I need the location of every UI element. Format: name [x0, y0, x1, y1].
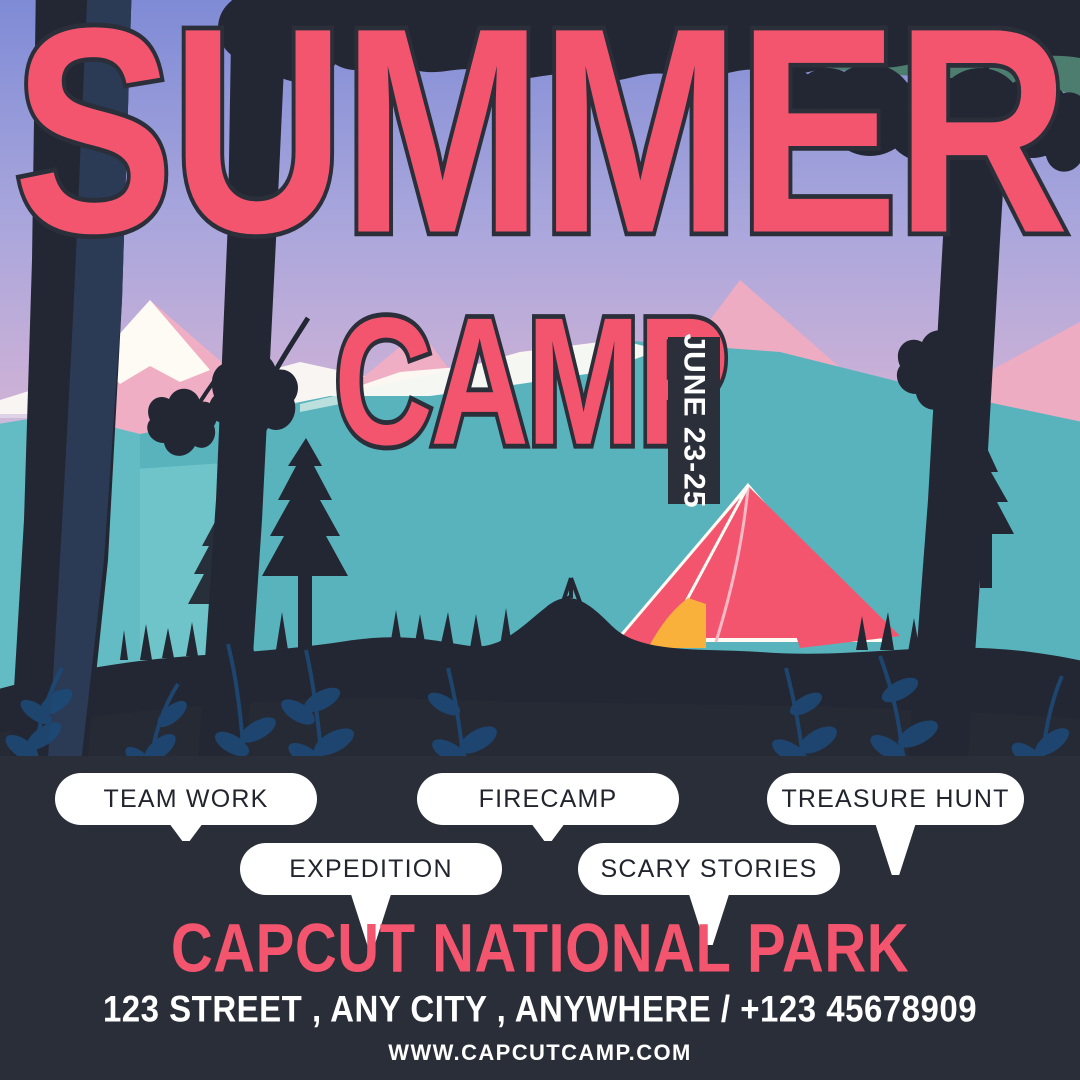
activity-pill-firecamp[interactable]: FIRECAMP: [417, 773, 679, 825]
activity-pill-label: TREASURE HUNT: [781, 785, 1009, 814]
activity-pill-label: SCARY STORIES: [600, 855, 817, 884]
activity-pill-expedition[interactable]: EXPEDITION: [240, 843, 502, 895]
activity-pill-label: TEAM WORK: [104, 785, 269, 814]
activity-pill-label: EXPEDITION: [289, 855, 452, 884]
park-name: CAPCUT NATIONAL PARK: [0, 909, 1080, 988]
activity-pill-team-work[interactable]: TEAM WORK: [55, 773, 317, 825]
poster-canvas: SUMMER CAMP JUNE 23-25 TEAM WORK FIRECAM…: [0, 0, 1080, 1080]
camp-scene-illustration: [0, 0, 1080, 790]
date-badge: JUNE 23-25: [668, 337, 720, 504]
date-badge-label: JUNE 23-25: [677, 333, 711, 508]
scene-svg: [0, 0, 1080, 790]
activity-pill-group: TEAM WORK FIRECAMP TREASURE HUNT EXPEDIT…: [0, 770, 1080, 900]
address-line: 123 STREET , ANY CITY , ANYWHERE / +123 …: [0, 988, 1080, 1031]
website-link[interactable]: WWW.CAPCUTCAMP.COM: [0, 1040, 1080, 1066]
activity-pill-scary-stories[interactable]: SCARY STORIES: [578, 843, 840, 895]
activity-pill-treasure-hunt[interactable]: TREASURE HUNT: [767, 773, 1024, 825]
activity-pill-label: FIRECAMP: [479, 785, 618, 814]
footer-block: CAPCUT NATIONAL PARK 123 STREET , ANY CI…: [0, 909, 1080, 1080]
